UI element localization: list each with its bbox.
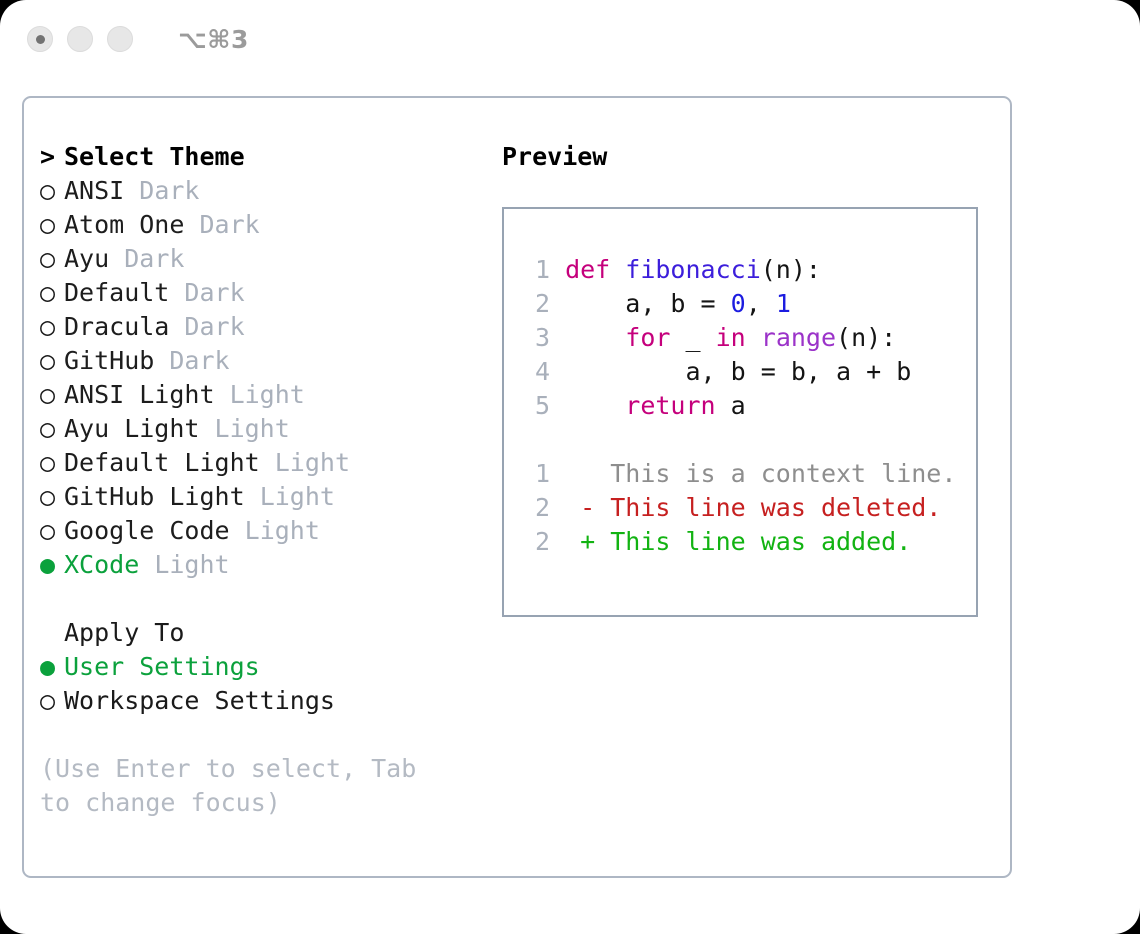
code-line-number: 1 — [522, 253, 550, 287]
apply-to-title: Apply To — [64, 618, 184, 647]
theme-name: Ayu Light — [64, 414, 199, 443]
code-line-number: 3 — [522, 321, 550, 355]
apply-to-options[interactable]: ●User Settings○Workspace Settings — [40, 650, 480, 718]
code-token-plain: , — [746, 289, 776, 318]
spacer — [124, 176, 139, 205]
radio-unselected-icon: ○ — [40, 514, 64, 548]
code-token-plain — [565, 323, 625, 352]
code-token-plain: a, b = b, a + b — [565, 357, 911, 386]
code-token-plain: (n): — [836, 323, 896, 352]
theme-kind-badge: Dark — [169, 346, 229, 375]
code-line-number: 5 — [522, 389, 550, 423]
code-token-plain — [565, 391, 625, 420]
code-sample: 1 def fibonacci(n):2 a, b = 0, 13 for _ … — [522, 253, 976, 423]
code-line: 1 def fibonacci(n): — [522, 253, 976, 287]
spacer — [215, 380, 230, 409]
theme-list-item[interactable]: ○Google Code Light — [40, 514, 480, 548]
keyboard-hint-text: (Use Enter to select, Tab to change focu… — [40, 752, 460, 820]
theme-name: Google Code — [64, 516, 230, 545]
gutter-gap — [550, 527, 580, 556]
code-line: 5 return a — [522, 389, 976, 423]
code-token-plain: a, b = — [565, 289, 731, 318]
radio-selected-icon: ● — [40, 548, 64, 582]
apply-to-spacer — [40, 616, 64, 650]
theme-kind-badge: Light — [245, 516, 320, 545]
diff-sign: + — [580, 527, 595, 556]
spacer — [230, 516, 245, 545]
theme-name: ANSI — [64, 176, 124, 205]
theme-kind-badge: Light — [260, 482, 335, 511]
radio-unselected-icon: ○ — [40, 242, 64, 276]
diff-sample: 1 This is a context line.2 - This line w… — [522, 457, 976, 559]
code-token-kw: def — [565, 255, 610, 284]
spacer — [139, 550, 154, 579]
diff-text: This line was added. — [595, 527, 911, 556]
gutter-gap — [550, 459, 580, 488]
theme-kind-badge: Dark — [184, 278, 244, 307]
radio-unselected-icon: ○ — [40, 378, 64, 412]
diff-line: 2 - This line was deleted. — [522, 491, 976, 525]
theme-name: Atom One — [64, 210, 184, 239]
apply-to-option[interactable]: ○Workspace Settings — [40, 684, 480, 718]
theme-list-item[interactable]: ○Default Dark — [40, 276, 480, 310]
theme-name: GitHub Light — [64, 482, 245, 511]
spacer — [184, 210, 199, 239]
theme-list-item[interactable]: ○Ayu Light Light — [40, 412, 480, 446]
apply-to-option-label: User Settings — [64, 652, 260, 681]
apply-to-option[interactable]: ●User Settings — [40, 650, 480, 684]
theme-list-item[interactable]: ○ANSI Dark — [40, 174, 480, 208]
preview-column: Preview 1 def fibonacci(n):2 a, b = 0, 1… — [502, 140, 1002, 617]
diff-line-number: 1 — [522, 457, 550, 491]
code-token-bi: range — [761, 323, 836, 352]
theme-list-header: >Select Theme — [40, 140, 480, 174]
theme-kind-badge: Dark — [139, 176, 199, 205]
spacer — [154, 346, 169, 375]
diff-sign — [580, 459, 595, 488]
theme-list-header-label: Select Theme — [64, 142, 245, 171]
gutter-gap — [550, 323, 565, 352]
theme-kind-badge: Dark — [124, 244, 184, 273]
title-bar: ⌥⌘3 — [0, 0, 1140, 78]
theme-name: ANSI Light — [64, 380, 215, 409]
spacer — [109, 244, 124, 273]
preview-title: Preview — [502, 140, 1002, 174]
spacer — [245, 482, 260, 511]
theme-list-item[interactable]: ●XCode Light — [40, 548, 480, 582]
gutter-gap — [550, 391, 565, 420]
theme-list-item[interactable]: ○ANSI Light Light — [40, 378, 480, 412]
theme-list-item[interactable]: ○Dracula Dark — [40, 310, 480, 344]
preview-spacer — [522, 423, 976, 457]
theme-name: GitHub — [64, 346, 154, 375]
code-token-kw: for — [625, 323, 670, 352]
theme-kind-badge: Dark — [184, 312, 244, 341]
window-dot-indicator — [36, 35, 45, 44]
apply-to-section: Apply To ●User Settings○Workspace Settin… — [40, 616, 480, 718]
radio-selected-icon: ● — [40, 650, 64, 684]
code-line-number: 2 — [522, 287, 550, 321]
code-token-plain — [610, 255, 625, 284]
theme-name: Default Light — [64, 448, 260, 477]
spacer — [199, 414, 214, 443]
spacer — [260, 448, 275, 477]
diff-text: This is a context line. — [595, 459, 956, 488]
radio-unselected-icon: ○ — [40, 276, 64, 310]
theme-list-item[interactable]: ○Default Light Light — [40, 446, 480, 480]
theme-kind-badge: Light — [154, 550, 229, 579]
code-token-plain — [746, 323, 761, 352]
diff-line: 2 + This line was added. — [522, 525, 976, 559]
theme-name: XCode — [64, 550, 139, 579]
prompt-caret-icon: > — [40, 140, 64, 174]
radio-unselected-icon: ○ — [40, 310, 64, 344]
theme-name: Default — [64, 278, 169, 307]
code-token-plain: (n): — [761, 255, 821, 284]
diff-line-number: 2 — [522, 525, 550, 559]
main-panel: >Select Theme ○ANSI Dark○Atom One Dark○A… — [22, 96, 1012, 878]
apply-to-option-label: Workspace Settings — [64, 686, 335, 715]
theme-name: Ayu — [64, 244, 109, 273]
theme-list-item[interactable]: ○GitHub Dark — [40, 344, 480, 378]
radio-unselected-icon: ○ — [40, 446, 64, 480]
code-token-fn: fibonacci — [625, 255, 760, 284]
window-dot-third[interactable] — [107, 26, 133, 52]
theme-kind-badge: Light — [230, 380, 305, 409]
theme-kind-badge: Dark — [199, 210, 259, 239]
theme-list-item[interactable]: ○Ayu Dark — [40, 242, 480, 276]
theme-selector-column: >Select Theme ○ANSI Dark○Atom One Dark○A… — [40, 140, 480, 820]
window-dot-active[interactable] — [27, 26, 53, 52]
window-dot-second[interactable] — [67, 26, 93, 52]
diff-line: 1 This is a context line. — [522, 457, 976, 491]
keyboard-shortcut-label: ⌥⌘3 — [178, 27, 249, 52]
app-window: ⌥⌘3 >Select Theme ○ANSI Dark○Atom One Da… — [0, 0, 1140, 934]
apply-to-title-row: Apply To — [40, 616, 480, 650]
code-token-kw: in — [716, 323, 746, 352]
radio-unselected-icon: ○ — [40, 480, 64, 514]
theme-kind-badge: Light — [215, 414, 290, 443]
radio-unselected-icon: ○ — [40, 412, 64, 446]
diff-text: This line was deleted. — [595, 493, 941, 522]
diff-sign: - — [580, 493, 595, 522]
code-line-number: 4 — [522, 355, 550, 389]
code-token-num: 0 — [731, 289, 746, 318]
diff-line-number: 2 — [522, 491, 550, 525]
gutter-gap — [550, 255, 565, 284]
gutter-gap — [550, 289, 565, 318]
radio-unselected-icon: ○ — [40, 344, 64, 378]
code-line: 2 a, b = 0, 1 — [522, 287, 976, 321]
code-token-plain: a — [716, 391, 746, 420]
theme-list-item[interactable]: ○GitHub Light Light — [40, 480, 480, 514]
code-token-plain: _ — [670, 323, 715, 352]
radio-unselected-icon: ○ — [40, 208, 64, 242]
preview-box: 1 def fibonacci(n):2 a, b = 0, 13 for _ … — [502, 207, 978, 617]
radio-unselected-icon: ○ — [40, 174, 64, 208]
spacer — [169, 312, 184, 341]
code-line: 4 a, b = b, a + b — [522, 355, 976, 389]
theme-list-item[interactable]: ○Atom One Dark — [40, 208, 480, 242]
code-line: 3 for _ in range(n): — [522, 321, 976, 355]
theme-list[interactable]: ○ANSI Dark○Atom One Dark○Ayu Dark○Defaul… — [40, 174, 480, 582]
code-token-num: 1 — [776, 289, 791, 318]
theme-name: Dracula — [64, 312, 169, 341]
gutter-gap — [550, 357, 565, 386]
gutter-gap — [550, 493, 580, 522]
spacer — [169, 278, 184, 307]
radio-unselected-icon: ○ — [40, 684, 64, 718]
theme-kind-badge: Light — [275, 448, 350, 477]
code-token-kw: return — [625, 391, 715, 420]
